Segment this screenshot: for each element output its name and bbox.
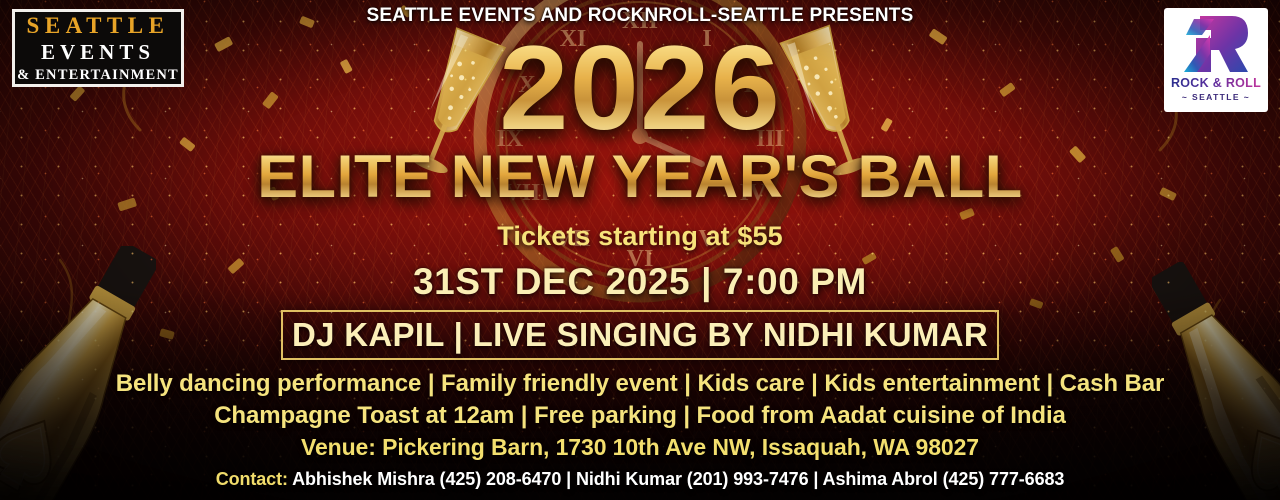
seattle-events-logo-line2: EVENTS xyxy=(41,42,155,63)
year-headline: 2026 xyxy=(0,28,1280,148)
contact-label: Contact: xyxy=(216,469,288,489)
contact-details: Abhishek Mishra (425) 208-6470 | Nidhi K… xyxy=(292,469,1064,489)
venue-line: Venue: Pickering Barn, 1730 10th Ave NW,… xyxy=(0,434,1280,461)
event-datetime: 31ST DEC 2025 | 7:00 PM xyxy=(0,261,1280,303)
rocknroll-logo-subtitle: ~ SEATTLE ~ xyxy=(1182,93,1250,102)
seattle-events-logo-line3: & ENTERTAINMENT xyxy=(17,68,179,83)
ticket-price-line: Tickets starting at $55 xyxy=(0,221,1280,252)
banner-content: SEATTLE EVENTS AND ROCKNROLL-SEATTLE PRE… xyxy=(0,0,1280,500)
lineup-box: DJ KAPIL | LIVE SINGING BY NIDHI KUMAR xyxy=(281,310,999,360)
contact-line: Contact: Abhishek Mishra (425) 208-6470 … xyxy=(0,469,1280,490)
event-banner: XII I II III IV V VI VII VIII IX X XI xyxy=(0,0,1280,500)
features-line-1: Belly dancing performance | Family frien… xyxy=(0,370,1280,398)
lineup-text: DJ KAPIL | LIVE SINGING BY NIDHI KUMAR xyxy=(292,316,988,354)
rocknroll-seattle-logo[interactable]: ROCK & ROLL ~ SEATTLE ~ xyxy=(1164,8,1268,112)
seattle-events-logo[interactable]: SEATTLE EVENTS & ENTERTAINMENT xyxy=(12,9,184,87)
seattle-events-logo-line1: SEATTLE xyxy=(27,14,170,37)
features-line-2: Champagne Toast at 12am | Free parking |… xyxy=(0,402,1280,430)
event-title: ELITE NEW YEAR'S BALL xyxy=(0,147,1280,207)
rocknroll-r-monogram-icon xyxy=(1180,13,1252,75)
rocknroll-logo-name: ROCK & ROLL xyxy=(1171,77,1261,90)
